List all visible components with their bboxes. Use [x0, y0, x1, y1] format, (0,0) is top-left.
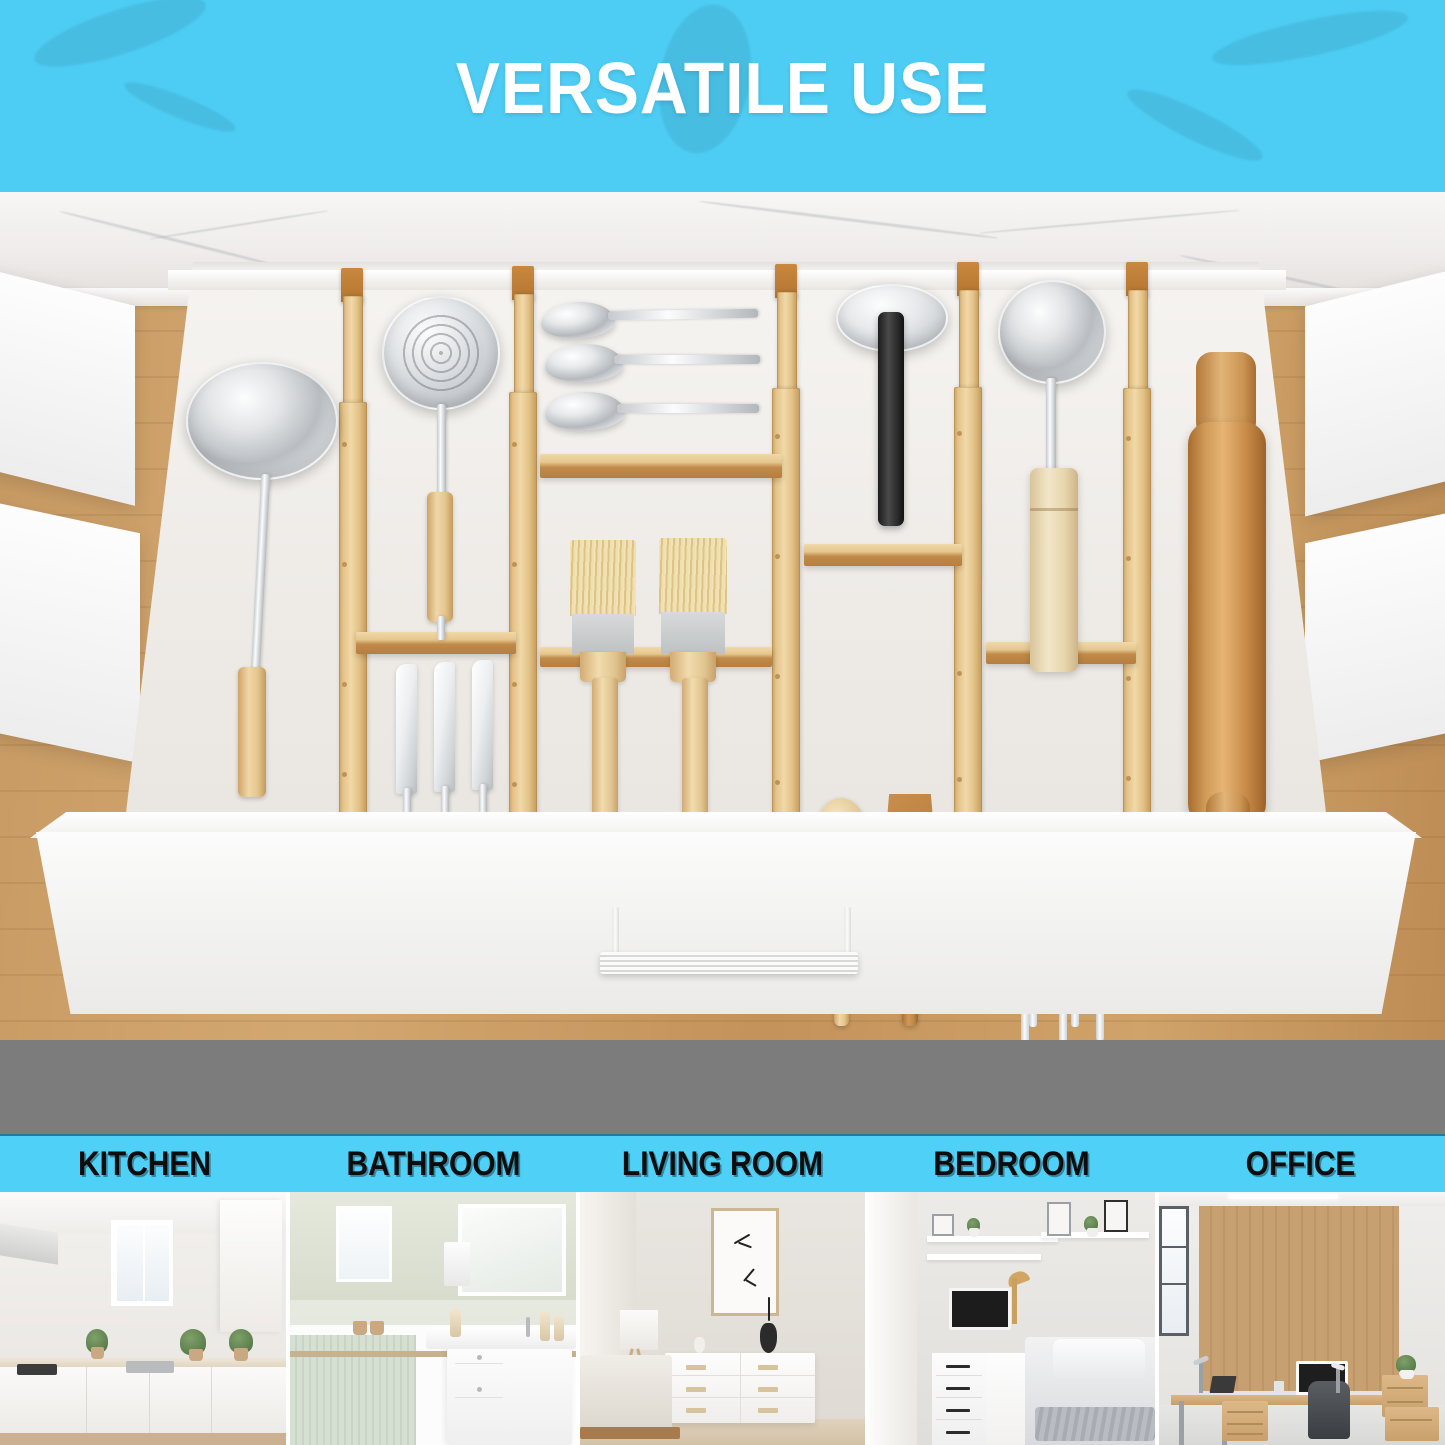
butter-knife [396, 664, 417, 794]
category-label-office: OFFICE [1173, 1145, 1427, 1184]
skimmer-stem [437, 404, 446, 498]
divider-rail [954, 387, 982, 823]
skimmer-ferrule [437, 616, 445, 640]
cross-shelf [804, 544, 962, 566]
soup-ladle-handle [1030, 468, 1078, 672]
bathroom-photo [290, 1192, 576, 1445]
page-title: VERSATILE USE [58, 48, 1387, 130]
cabinet-right-lower [1305, 501, 1445, 764]
rolling-pin-body [1188, 422, 1266, 826]
product-infographic: VERSATILE USE [0, 0, 1445, 1445]
office-photo [1159, 1192, 1445, 1445]
cabinet-left-lower [0, 491, 140, 764]
cross-shelf [356, 632, 516, 654]
divider-rail [509, 392, 537, 822]
header-banner: VERSATILE USE [0, 0, 1445, 192]
category-label-living-room: LIVING ROOM [595, 1145, 849, 1184]
pastry-brush-bristles [570, 540, 636, 616]
drawer-back-wall [168, 270, 1286, 290]
ladle-bowl [186, 362, 338, 480]
soup-ladle-bowl [998, 280, 1106, 384]
cross-shelf [540, 454, 782, 478]
serving-spoon-stem [617, 404, 759, 413]
drawer-pull-handle[interactable] [600, 952, 858, 974]
skimmer-handle [427, 492, 453, 622]
beautiful-look-frame: BEAUTIFUL LOOK [0, 1040, 1445, 1134]
handle-post-left [612, 907, 619, 955]
pastry-brush-ferrule [661, 612, 725, 654]
pastry-brush-handle [592, 678, 618, 818]
pastry-brush-handle [682, 678, 708, 818]
category-label-kitchen: KITCHEN [17, 1145, 271, 1184]
pastry-brush-ferrule [572, 614, 634, 654]
skimmer-perforations [398, 312, 484, 394]
category-label-bedroom: BEDROOM [884, 1145, 1138, 1184]
ladle-handle [238, 667, 266, 797]
divider-rail [1123, 388, 1151, 820]
category-label-bathroom: BATHROOM [306, 1145, 560, 1184]
category-label-bar: KITCHEN BATHROOM LIVING ROOM BEDROOM OFF… [0, 1134, 1445, 1192]
bedroom-photo [869, 1192, 1155, 1445]
serving-spoon-stem [614, 355, 760, 364]
handle-post-right [844, 907, 851, 955]
living-room-photo [580, 1192, 866, 1445]
butter-knife [434, 662, 455, 792]
kitchen-photo [0, 1192, 286, 1445]
pizza-cutter-handle [878, 312, 904, 526]
drawer-front-panel [36, 832, 1416, 1014]
handle-seam [1030, 508, 1078, 511]
butter-knife [472, 660, 493, 790]
hero-product-photo [0, 192, 1445, 1040]
divider-rail [339, 402, 367, 822]
pastry-brush-bristles [659, 538, 727, 614]
soup-ladle-stem [1046, 378, 1056, 474]
room-photo-strip [0, 1192, 1445, 1445]
